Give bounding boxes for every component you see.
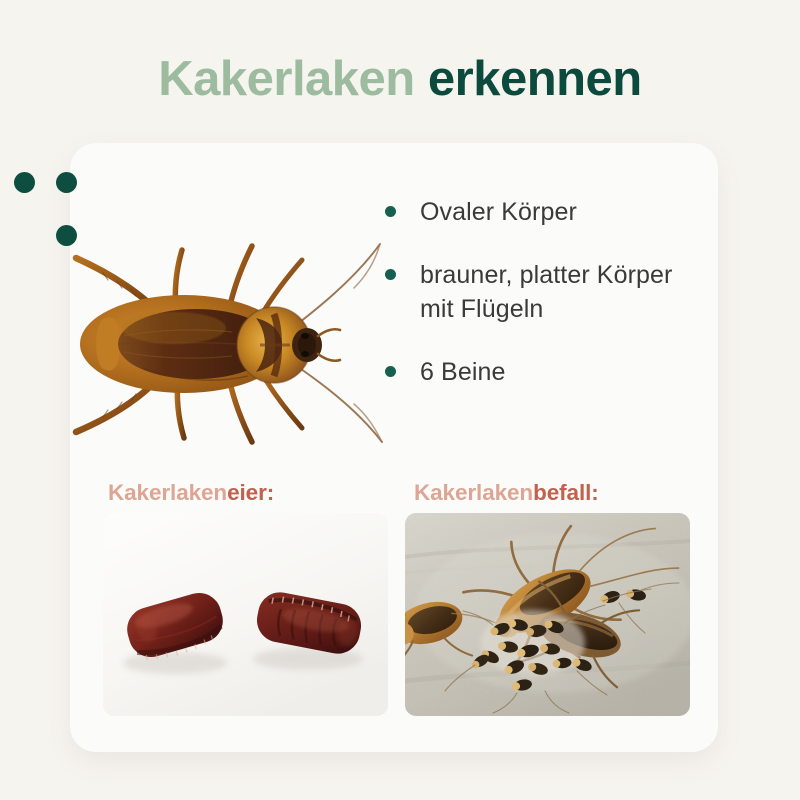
page-title: Kakerlaken erkennen [0, 52, 800, 107]
feature-label: Ovaler Körper [420, 195, 577, 230]
title-part-2: erkennen [428, 52, 642, 106]
infestation-heading-part-1: Kakerlaken [414, 480, 533, 505]
bullet-dot-icon [385, 269, 396, 280]
title-part-1: Kakerlaken [158, 52, 415, 106]
feature-item: 6 Beine [385, 355, 685, 390]
eggs-heading-part-1: Kakerlaken [108, 480, 227, 505]
feature-label: 6 Beine [420, 355, 506, 390]
feature-item: Ovaler Körper [385, 195, 685, 230]
feature-label: brauner, platter Körper mit Flügeln [420, 258, 685, 327]
decorative-dot-1 [14, 172, 35, 193]
decorative-dot-2 [56, 172, 77, 193]
infestation-section-heading: Kakerlakenbefall: [414, 480, 599, 506]
infestation-heading-part-2: befall: [533, 480, 599, 505]
feature-item: brauner, platter Körper mit Flügeln [385, 258, 685, 327]
feature-list: Ovaler Körper brauner, platter Körper mi… [385, 195, 685, 389]
bullet-dot-icon [385, 206, 396, 217]
american-cockroach-photo [24, 218, 394, 466]
decorative-dot-3 [56, 225, 77, 246]
bullet-dot-icon [385, 366, 396, 377]
title-space [415, 52, 428, 106]
eggs-section-heading: Kakerlakeneier: [108, 480, 274, 506]
cockroach-infestation-photo [405, 513, 690, 716]
eggs-heading-part-2: eier: [227, 480, 274, 505]
cockroach-egg-cases-photo [103, 513, 388, 716]
infographic-canvas: Kakerlaken erkennen [0, 0, 800, 800]
